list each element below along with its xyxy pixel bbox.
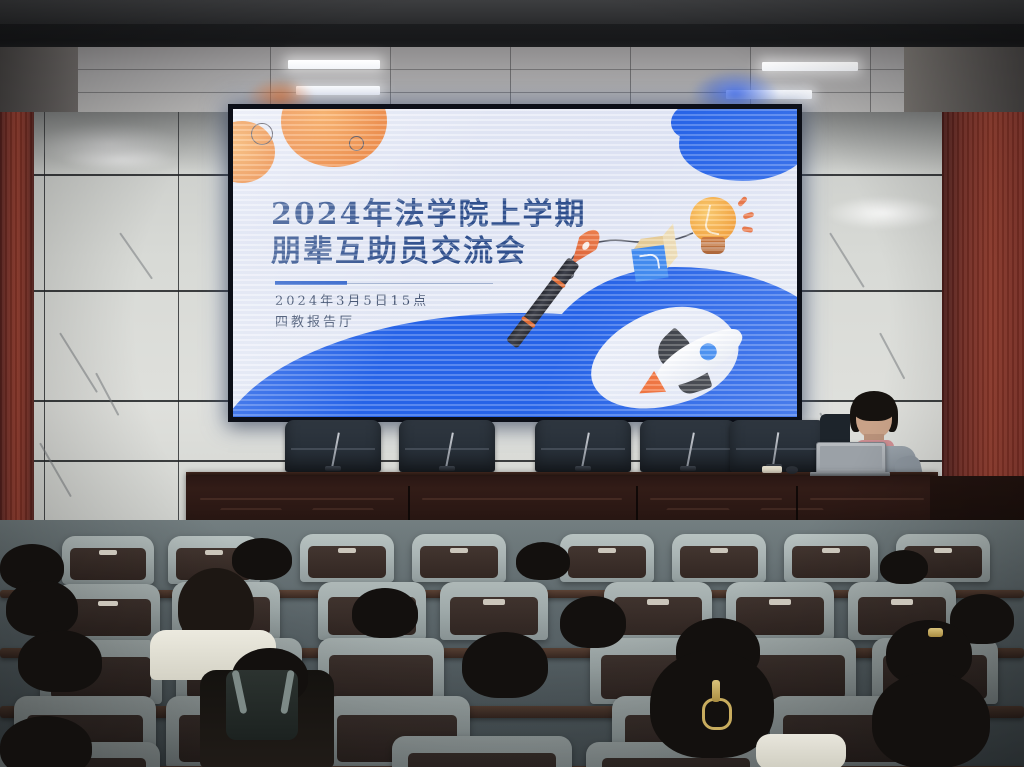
audience-area	[0, 520, 1024, 767]
ceiling-light	[288, 60, 380, 69]
outline-ring-icon	[349, 136, 364, 151]
ceiling-edge-left	[0, 47, 78, 115]
audience-seat	[412, 534, 506, 582]
audience-head	[462, 632, 548, 698]
slide-title-line-2: 朋辈互助员交流会	[271, 234, 611, 271]
hair-clip	[712, 680, 720, 702]
slide-divider	[275, 281, 493, 285]
audience-head	[18, 630, 102, 692]
audience-head	[560, 596, 626, 648]
fur-collar	[756, 734, 846, 767]
audience-head	[6, 580, 78, 636]
presentation-slide: 2024年法学院上学期 朋辈互助员交流会 2024年3月5日15点 四教报告厅	[233, 109, 797, 417]
outline-ring-icon	[251, 123, 273, 145]
papers	[762, 466, 782, 473]
slide-title-line-1: 2024年法学院上学期	[271, 197, 611, 234]
audience-seat	[784, 534, 878, 582]
audience-head	[516, 542, 570, 580]
audience-seat	[318, 638, 444, 704]
audience-seat	[560, 534, 654, 582]
microphone-base	[680, 466, 696, 471]
mouse-icon	[786, 466, 798, 474]
hair-clip	[928, 628, 943, 637]
projection-screen: 2024年法学院上学期 朋辈互助员交流会 2024年3月5日15点 四教报告厅	[228, 104, 802, 422]
audience-head	[880, 550, 928, 584]
hair-clip	[702, 698, 732, 730]
slide-subtitle-venue: 四教报告厅	[275, 313, 611, 334]
audience-seat	[62, 536, 154, 584]
audience-head	[232, 538, 292, 580]
microphone-base	[575, 466, 591, 471]
light-bulb-icon	[687, 197, 741, 259]
audience-seat	[300, 534, 394, 582]
orange-blob-icon	[281, 109, 387, 167]
audience-seat	[392, 736, 572, 767]
ceiling-edge-right	[904, 47, 1024, 115]
microphone-base	[325, 466, 341, 471]
lecture-hall-photo: 2024年法学院上学期 朋辈互助员交流会 2024年3月5日15点 四教报告厅	[0, 0, 1024, 767]
audience-seat	[672, 534, 766, 582]
audience-head	[352, 588, 418, 638]
audience-head	[872, 672, 990, 767]
slide-subtitle-datetime: 2024年3月5日15点	[275, 292, 611, 313]
microphone-base	[439, 466, 455, 471]
audience-seat	[440, 582, 548, 640]
cube-icon	[630, 234, 682, 286]
slide-text-block: 2024年法学院上学期 朋辈互助员交流会 2024年3月5日15点 四教报告厅	[271, 197, 611, 334]
